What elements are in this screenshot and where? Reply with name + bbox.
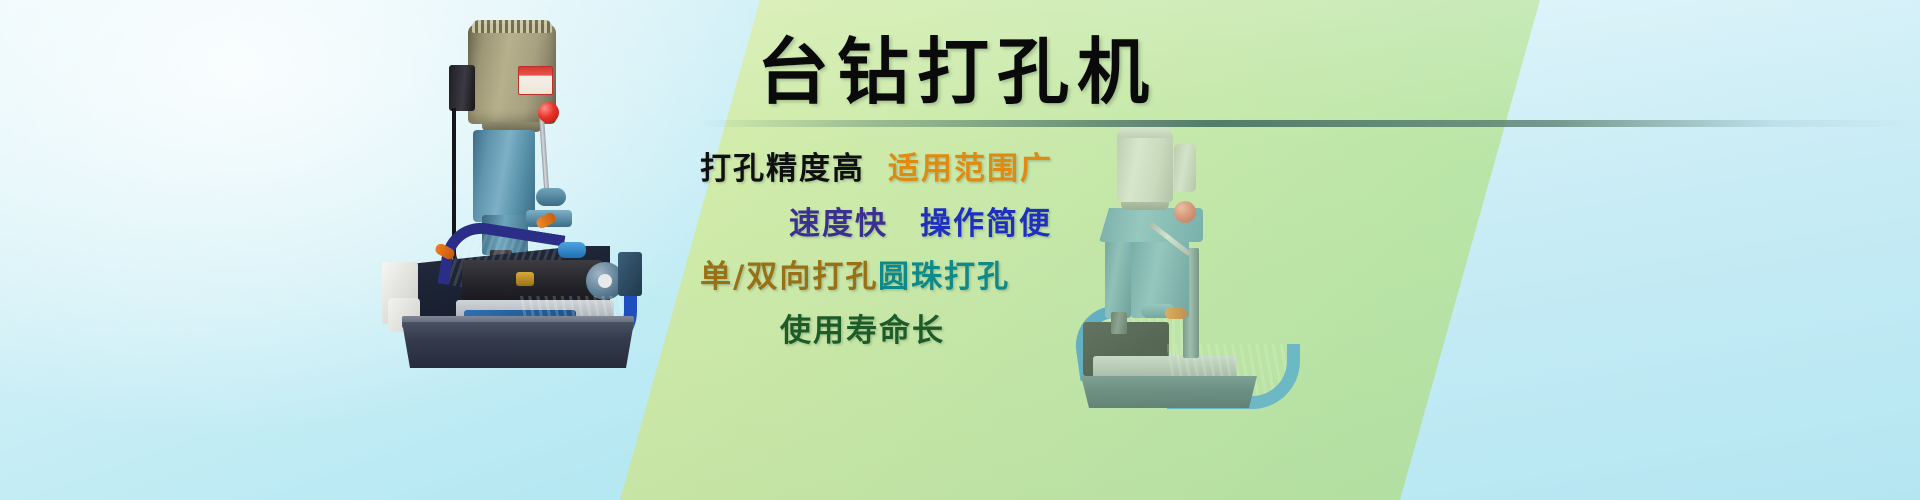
product-image-left bbox=[370, 10, 660, 370]
feature-precision: 打孔精度高 bbox=[700, 143, 865, 188]
right-base-plate-icon bbox=[1081, 376, 1257, 408]
product-image-right bbox=[1075, 108, 1325, 408]
brass-jaw-icon bbox=[516, 272, 534, 286]
title-divider bbox=[700, 120, 1920, 127]
base-plate-icon bbox=[402, 322, 634, 368]
feature-easy-operate: 操作简便 bbox=[920, 198, 1052, 243]
right-orange-fitting-icon bbox=[1165, 308, 1187, 319]
feature-long-life: 使用寿命长 bbox=[780, 305, 945, 350]
right-motor-housing-icon bbox=[1117, 130, 1173, 202]
right-lever-ball-icon bbox=[1174, 201, 1196, 223]
feature-bead-drilling: 圆珠打孔 bbox=[878, 251, 1010, 296]
banner-title: 台钻打孔机 bbox=[757, 36, 1157, 108]
junction-box-icon bbox=[449, 65, 475, 111]
feature-single-double: 单/双向打孔 bbox=[700, 251, 878, 296]
motor-label-icon bbox=[518, 66, 553, 95]
lever-joint-icon bbox=[536, 188, 566, 206]
motor-vent-icon bbox=[472, 20, 552, 33]
right-spindle-icon bbox=[1111, 312, 1127, 334]
lever-ball-icon bbox=[538, 102, 559, 123]
blue-fitting-icon bbox=[558, 242, 586, 258]
feature-wide-range: 适用范围广 bbox=[888, 143, 1053, 188]
drill-column-icon bbox=[473, 130, 535, 222]
right-capacitor-icon bbox=[1174, 144, 1196, 192]
right-drill-column-icon bbox=[1105, 238, 1131, 318]
side-handle-icon bbox=[618, 252, 642, 296]
hand-wheel-hub-icon bbox=[598, 274, 612, 288]
feature-fast-speed: 速度快 bbox=[789, 198, 888, 243]
promo-banner: 台钻打孔机 打孔精度高 适用范围广 速度快 操作简便 单/双向打孔 圆珠打孔 使… bbox=[0, 0, 1920, 500]
